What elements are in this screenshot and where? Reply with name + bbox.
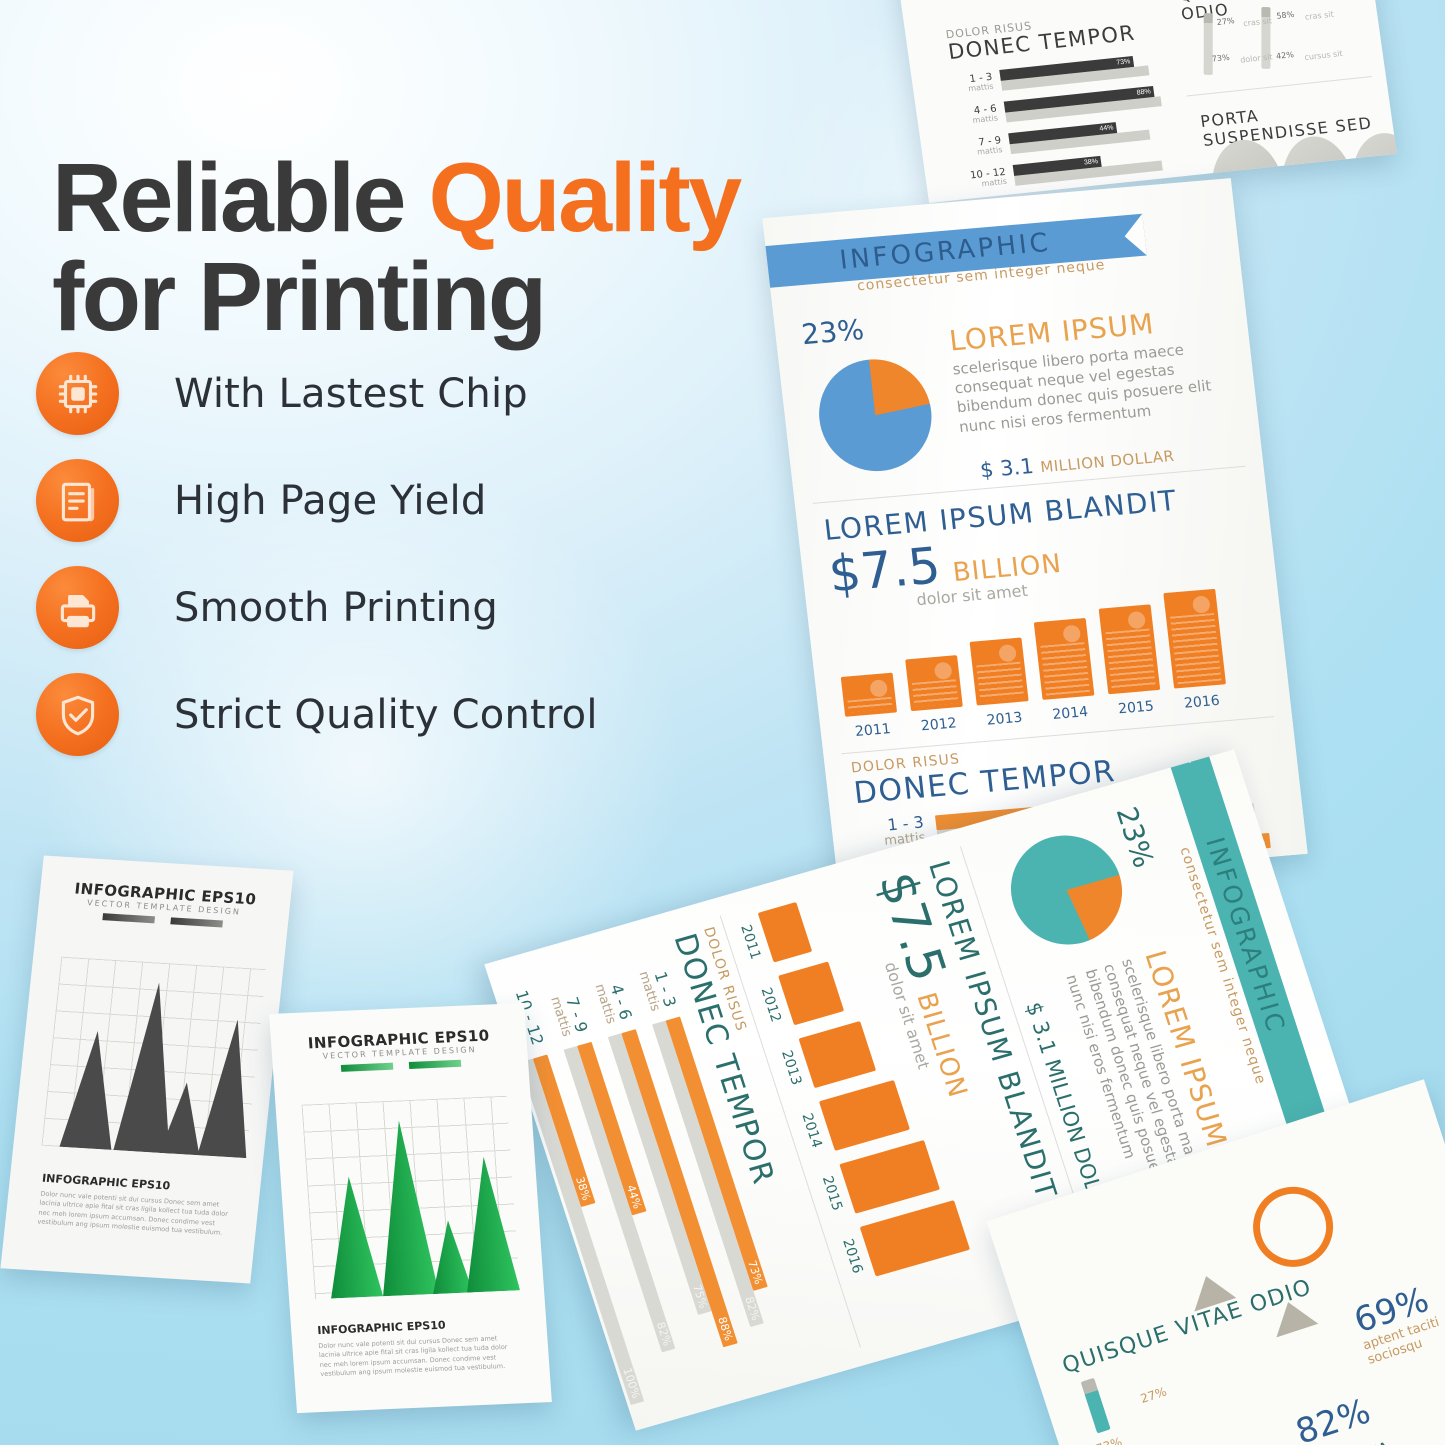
teal-year-bar [860,1200,970,1276]
document-icon [36,459,119,542]
grey-pen-value-4: 42% [1275,50,1294,61]
pen-value-left: 73% [1094,1435,1124,1445]
pie-chart [813,355,937,476]
eps-key-1 [340,1063,392,1072]
grey-bar-value: 44% [1099,122,1114,134]
year-label: 2015 [1105,697,1167,718]
eps-foot-body: Dolor nunc vale potenti sit dui cursus D… [318,1334,517,1380]
eps-foot-title: INFOGRAPHIC EPS10 [41,1172,170,1193]
grey-bar-value: 88% [1136,86,1151,98]
grey-pen-value-1: 27% [1216,16,1235,27]
grey-pen-value-3: 58% [1276,10,1295,21]
eps10-sheet-grey: INFOGRAPHIC EPS10 VECTOR TEMPLATE DESIGN… [0,855,293,1283]
bar-dot [998,644,1017,662]
grey-bar-cat: 4 - 6mattis [952,104,999,128]
year-bar [1034,618,1095,700]
year-bar-chart: 2011 2012 2013 2014 2015 2016 [835,590,1257,742]
year-label: 2014 [1040,703,1102,724]
eps-key-1 [102,913,155,923]
teal-year-bar [839,1140,940,1214]
bar-lines [912,679,959,707]
teal-hbar-value: 88% [714,1315,736,1342]
bar-lines [976,662,1024,702]
headline-part-1: Reliable [52,143,428,252]
bar-dot [934,662,953,680]
eps-foot-body: Dolor nunc vale potenti sit dui cursus D… [37,1190,236,1239]
eps-key-2 [170,917,223,927]
pen-value-right: 27% [1139,1384,1169,1406]
grey-divider [1187,76,1372,96]
stat-82-value: 82% [1291,1391,1375,1445]
eps-foot-title: INFOGRAPHIC EPS10 [317,1319,446,1338]
bar-dot [828,961,844,1010]
year-label: 2016 [1171,692,1233,713]
teal-year-bar [819,1080,910,1151]
teal-hbar-track-value: 82% [653,1321,674,1348]
feature-item-chip[interactable]: With Lastest Chip [36,340,676,447]
eps10-sheet-green: INFOGRAPHIC EPS10 VECTOR TEMPLATE DESIGN [269,1003,552,1413]
grey-bar-value: 38% [1083,156,1098,168]
grey-bar-cat: 1 - 3mattis [948,72,995,96]
teal-year-bar [799,1021,877,1088]
grey-bar-value: 73% [1116,56,1131,68]
eps-key-2 [408,1060,460,1069]
bar-dot [1062,625,1081,643]
year-bar [1099,604,1161,694]
bar-lines [860,1021,876,1070]
headline-line-2: for Printing [52,250,882,343]
bar-lines [954,1200,970,1249]
teal-year-bar [778,961,844,1025]
year-bar [841,673,897,717]
feature-label: Strict Quality Control [174,692,598,738]
bar-dot [796,902,812,951]
feature-label: High Page Yield [174,478,486,524]
year-label: 2013 [974,709,1036,730]
bar-dot [1127,611,1146,629]
bar-lines [847,697,892,713]
teal-hbar-track-value: 82% [741,1295,762,1322]
grey-bar-cat: 7 - 9mattis [957,135,1004,159]
bar-lines [894,1080,910,1129]
year-bar [1163,589,1226,689]
year-bar [905,655,963,711]
bar-lines [1105,629,1155,690]
feature-item-smooth-printing[interactable]: Smooth Printing [36,554,676,661]
bar-lines [924,1140,940,1189]
million-stat: $ 3.1 MILLION DOLLAR [979,442,1176,482]
eps-spike-chart [41,957,266,1158]
grey-pen-icon-1 [1204,13,1213,75]
shield-check-icon [36,673,119,756]
grey-pen-cap-4: cursus sit [1304,49,1343,62]
page-title: Reliable Quality for Printing [52,151,882,343]
grey-pen-value-2: 73% [1211,53,1230,64]
poster-canvas: DOLOR RISUS DONEC TEMPOR 1 - 3mattis 73%… [0,0,1445,1445]
clock-icon [1243,1176,1344,1277]
bar-lines [1040,642,1090,695]
year-bar [970,637,1029,705]
eps-spike-chart [302,1096,520,1299]
bar-dot [869,679,888,697]
grey-pen-cap-3: cras sit [1304,10,1334,22]
pen-icon [1081,1378,1111,1434]
feature-label: With Lastest Chip [174,371,528,417]
bar-dot [860,1021,876,1070]
year-label: 2011 [842,720,904,741]
bar-dot [1192,595,1211,613]
teal-year-bar [758,902,813,963]
printer-icon [36,566,119,649]
headline-accent: Quality [428,143,739,252]
bar-lines [828,961,844,1010]
bar-lines [796,902,812,951]
feature-label: Smooth Printing [174,585,498,631]
feature-item-page-yield[interactable]: High Page Yield [36,447,676,554]
feature-list: With Lastest Chip High Page Yield Sm [36,340,676,768]
feature-item-quality-control[interactable]: Strict Quality Control [36,661,676,768]
bar-dot [954,1200,970,1249]
bar-dot [894,1080,910,1129]
bar-lines [1170,613,1222,684]
bar-dot [924,1140,940,1189]
grey-bar-cat: 10 - 12mattis [961,167,1008,191]
year-label: 2012 [908,714,970,735]
chip-icon [36,352,119,435]
